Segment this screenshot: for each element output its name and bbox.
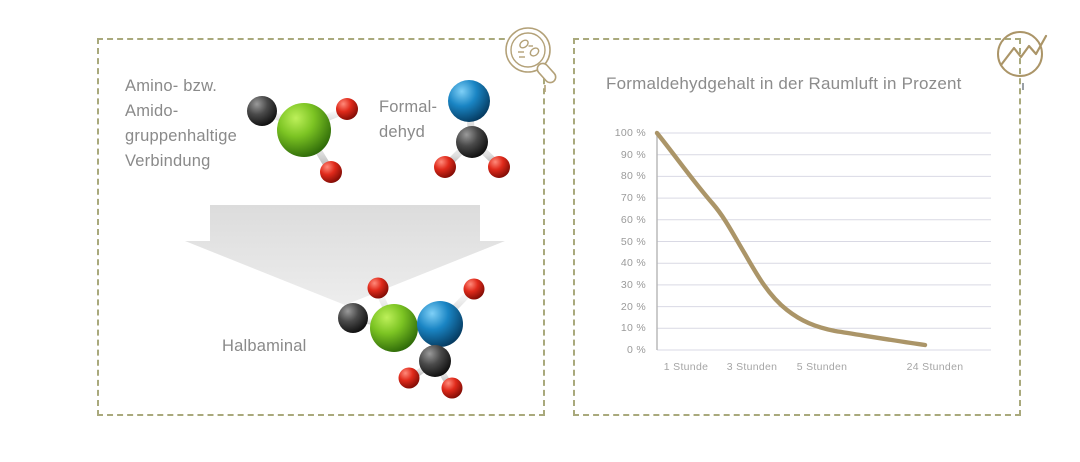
x-tick: 1 Stunde <box>664 361 708 373</box>
x-tick: 3 Stunden <box>727 361 778 373</box>
chart-x-tick-labels: 1 Stunde 3 Stunden 5 Stunden 24 Stunden <box>0 0 1080 462</box>
x-tick: 5 Stunden <box>797 361 848 373</box>
x-tick: 24 Stunden <box>907 361 964 373</box>
infographic-stage: Amino- bzw. Amido- gruppenhaltige Verbin… <box>0 0 1080 462</box>
